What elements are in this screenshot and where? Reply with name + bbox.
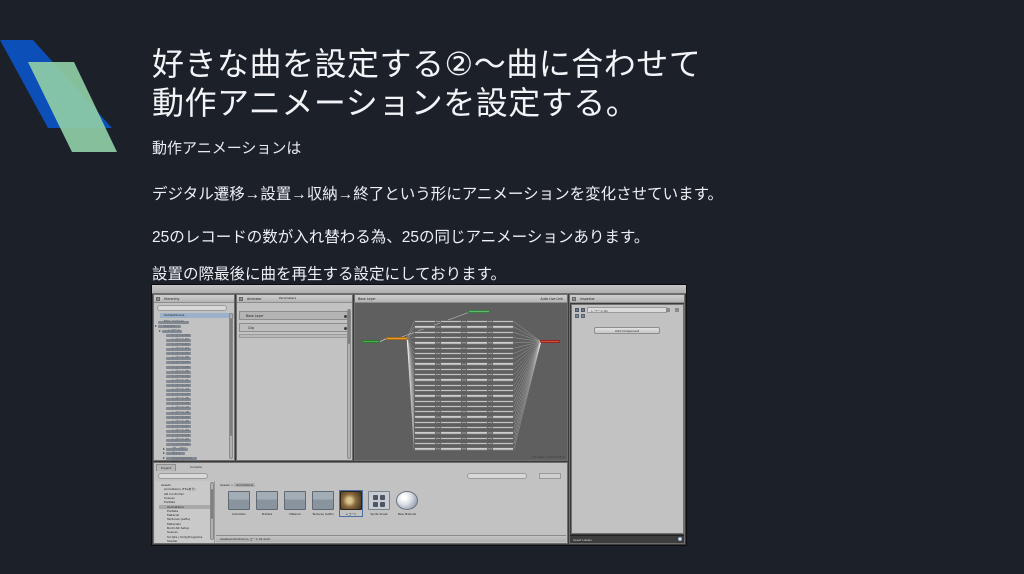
asset-item[interactable]: Textures (Lefts): [312, 491, 334, 516]
hierarchy-expand-arrow[interactable]: [163, 452, 165, 454]
animator-graph-footer: 25 states / 24 transitions: [533, 456, 565, 459]
animator-layers-panel: Animator Parameters Base Layer Clip: [236, 294, 353, 461]
animator-state-node[interactable]: [414, 336, 436, 339]
grid-cell: [380, 502, 385, 507]
animator-state-node[interactable]: [440, 442, 462, 445]
animator-state-node[interactable]: [440, 320, 462, 323]
grid-cell: [380, 495, 385, 500]
animator-state-node[interactable]: [492, 368, 514, 371]
animator-state-node[interactable]: [466, 336, 488, 339]
animator-state-node[interactable]: [466, 378, 488, 381]
project-view-toggle-icon[interactable]: [539, 473, 561, 479]
grid-cell: [373, 495, 378, 500]
animator-state-node[interactable]: [466, 447, 488, 450]
animator-state-node[interactable]: [492, 415, 514, 418]
project-search-input[interactable]: [158, 473, 208, 479]
animator-state-node[interactable]: [466, 341, 488, 344]
animator-state-node[interactable]: [414, 426, 436, 429]
animator-state-node[interactable]: [466, 368, 488, 371]
animator-state-node[interactable]: [414, 368, 436, 371]
animator-state-node[interactable]: [440, 394, 462, 397]
animator-state-node[interactable]: [440, 325, 462, 328]
animator-state-node[interactable]: [492, 357, 514, 360]
project-filter-input[interactable]: [467, 473, 527, 479]
hierarchy-search-input[interactable]: [157, 305, 227, 311]
animator-state-node[interactable]: [466, 325, 488, 328]
breadcrumb-animations[interactable]: Animations: [234, 483, 255, 487]
animator-state-node[interactable]: [440, 357, 462, 360]
animator-state-node[interactable]: [466, 400, 488, 403]
inspector-body: レコード-01 Add Component: [571, 304, 684, 534]
animator-state-node[interactable]: [466, 384, 488, 387]
animator-state-node[interactable]: [466, 347, 488, 350]
animator-layer-row-clip[interactable]: Clip: [239, 323, 351, 332]
animator-layer-clip-label: Clip: [248, 326, 254, 330]
animator-layer-controls[interactable]: Auto Live Link: [541, 295, 563, 303]
asset-item[interactable]: Material: [284, 491, 306, 516]
asset-label: レコード: [340, 512, 362, 516]
parameters-tab[interactable]: Parameters: [275, 295, 300, 302]
animator-state-node[interactable]: [466, 415, 488, 418]
animator-state-node[interactable]: [440, 426, 462, 429]
inspector-icon: [572, 297, 576, 301]
project-status-bar: Assets/Animations/レコード-01.anim: [216, 535, 566, 542]
asset-item[interactable]: New Material: [396, 491, 418, 516]
animator-state-node[interactable]: [414, 384, 436, 387]
animator-state-node[interactable]: [466, 362, 488, 365]
animator-state-node[interactable]: [440, 400, 462, 403]
animator-state-node[interactable]: [414, 431, 436, 434]
asset-label: Material: [284, 512, 306, 516]
hierarchy-scene-root[interactable]: SampleScene: [160, 313, 234, 318]
subtitle-text: 動作アニメーションは: [152, 138, 301, 160]
project-breadcrumb[interactable]: Assets > Animations: [220, 483, 255, 487]
body-line-3: 設置の際最後に曲を再生する設定にしております。: [152, 264, 506, 286]
hierarchy-panel: Hierarchy SampleScene Main CameraCanvasレ…: [153, 294, 235, 461]
animator-default-state-node[interactable]: [468, 310, 490, 313]
object-static-toggle[interactable]: [575, 314, 579, 318]
object-name-field[interactable]: レコード-01: [587, 307, 667, 313]
asset-thumbnail: [340, 491, 362, 510]
project-tree-scrollbar[interactable]: [210, 482, 214, 540]
asset-item[interactable]: Animation: [228, 491, 250, 516]
animator-exit-node[interactable]: [540, 340, 560, 343]
hierarchy-tab[interactable]: Hierarchy: [154, 295, 234, 303]
animator-state-node[interactable]: [414, 378, 436, 381]
animator-state-node[interactable]: [414, 421, 436, 424]
animator-state-node[interactable]: [492, 320, 514, 323]
animator-state-node[interactable]: [440, 421, 462, 424]
tab-console[interactable]: Console: [186, 464, 206, 471]
animator-state-node[interactable]: [492, 352, 514, 355]
hierarchy-expand-arrow[interactable]: [155, 325, 157, 327]
add-component-button[interactable]: Add Component: [594, 327, 660, 334]
animator-state-node[interactable]: [492, 373, 514, 376]
animator-state-node[interactable]: [414, 389, 436, 392]
asset-item[interactable]: レコード: [340, 491, 362, 516]
animator-state-node[interactable]: [466, 405, 488, 408]
animator-state-node[interactable]: [440, 405, 462, 408]
animator-state-node[interactable]: [414, 325, 436, 328]
hierarchy-expand-arrow[interactable]: [159, 330, 161, 332]
animator-state-node[interactable]: [492, 447, 514, 450]
hierarchy-scrollbar[interactable]: [229, 313, 233, 459]
slide-root: 好きな曲を設定する②〜曲に合わせて 動作アニメーションを設定する。 動作アニメー…: [0, 0, 1024, 574]
hierarchy-icon: [156, 297, 160, 301]
animator-state-node[interactable]: [414, 442, 436, 445]
animator-icon: [239, 297, 243, 301]
hierarchy-expand-arrow[interactable]: [163, 457, 165, 459]
project-tree-item[interactable]: Shader: [159, 539, 211, 543]
animator-state-node[interactable]: [492, 426, 514, 429]
animator-state-node[interactable]: [492, 378, 514, 381]
animator-state-node[interactable]: [492, 384, 514, 387]
animator-state-node[interactable]: [466, 357, 488, 360]
body-line-2: 25のレコードの数が入れ替わる為、25の同じアニメーションあります。: [152, 227, 649, 249]
asset-thumbnail: [396, 491, 418, 510]
animator-state-node[interactable]: [440, 384, 462, 387]
asset-thumbnail: [228, 491, 250, 510]
animator-state-node[interactable]: [466, 426, 488, 429]
page-title: 好きな曲を設定する②〜曲に合わせて 動作アニメーションを設定する。: [152, 45, 701, 123]
asset-label: Textures (Lefts): [312, 512, 334, 516]
object-prefab-icon: [581, 308, 585, 312]
animator-state-node[interactable]: [440, 331, 462, 334]
animator-state-node[interactable]: [492, 405, 514, 408]
asset-thumbnail: [312, 491, 334, 510]
animator-state-node[interactable]: [414, 357, 436, 360]
animator-state-node[interactable]: [440, 368, 462, 371]
animator-state-node[interactable]: [440, 415, 462, 418]
animator-state-node[interactable]: [440, 336, 462, 339]
breadcrumb-assets[interactable]: Assets: [220, 483, 230, 487]
asset-label-badge[interactable]: [678, 537, 682, 541]
animator-state-node[interactable]: [492, 400, 514, 403]
inspector-menu-icon[interactable]: [675, 308, 679, 312]
animator-state-node[interactable]: [414, 405, 436, 408]
asset-thumbnail: [284, 491, 306, 510]
animator-state-node[interactable]: [466, 437, 488, 440]
project-tree[interactable]: AssetsAnimations (Fbxあり)AR ControllerSce…: [155, 481, 215, 543]
animator-state-node[interactable]: [466, 421, 488, 424]
animator-state-node[interactable]: [440, 362, 462, 365]
inspector-tab[interactable]: Inspector: [570, 295, 684, 303]
object-tag-icon: [581, 314, 585, 318]
animator-state-node[interactable]: [466, 320, 488, 323]
animator-state-node[interactable]: [492, 389, 514, 392]
animator-state-node[interactable]: [492, 431, 514, 434]
animator-state-node[interactable]: [414, 331, 436, 334]
logo-shapes: [0, 0, 160, 165]
asset-thumbnail: [256, 491, 278, 510]
inspector-lock-icon[interactable]: [666, 308, 670, 312]
animator-state-node[interactable]: [466, 373, 488, 376]
animator-state-node[interactable]: [414, 347, 436, 350]
animator-any-state-node[interactable]: [386, 337, 408, 340]
animator-state-node[interactable]: [414, 362, 436, 365]
animator-state-node[interactable]: [466, 442, 488, 445]
animator-state-graph[interactable]: [356, 304, 566, 460]
animator-state-node[interactable]: [440, 447, 462, 450]
animator-state-node[interactable]: [440, 341, 462, 344]
animator-state-node[interactable]: [440, 431, 462, 434]
project-panel: Project Console AssetsAnimations (Fbxあり)…: [153, 462, 568, 544]
animator-state-node[interactable]: [492, 331, 514, 334]
animator-state-node[interactable]: [414, 437, 436, 440]
animator-entry-node[interactable]: [362, 340, 380, 343]
grid-cell: [373, 502, 378, 507]
animator-state-node[interactable]: [466, 410, 488, 413]
asset-label: Animation: [228, 512, 250, 516]
asset-label: Sprite Sheet: [368, 512, 390, 516]
animator-state-node[interactable]: [440, 373, 462, 376]
unity-main-toolbar[interactable]: [152, 285, 686, 294]
animator-state-node[interactable]: [492, 341, 514, 344]
animator-state-node[interactable]: [414, 415, 436, 418]
animator-state-node[interactable]: [440, 410, 462, 413]
animator-layer-row-base[interactable]: Base Layer: [239, 311, 351, 320]
animator-breadcrumb[interactable]: Base Layer: [358, 297, 376, 301]
animator-graph-panel: Base Layer Auto Live Link 25 states / 24…: [354, 294, 568, 461]
hierarchy-expand-arrow[interactable]: [163, 448, 165, 450]
animator-layer-divider: [239, 334, 351, 338]
project-content: Assets > Animations AnimationPrefabsMate…: [216, 481, 566, 542]
logo-mark: [0, 0, 160, 165]
asset-item[interactable]: Sprite Sheet: [368, 491, 390, 516]
animator-state-node[interactable]: [414, 447, 436, 450]
body-line-1: デジタル遷移→設置→収納→終了という形にアニメーションを変化させています。: [152, 184, 723, 206]
animator-state-node[interactable]: [440, 389, 462, 392]
animator-layers-scrollbar[interactable]: [347, 309, 351, 459]
animator-layer-base-label: Base Layer: [246, 314, 264, 318]
inspector-panel: Inspector レコード-01 Add Component Asset La…: [569, 294, 685, 544]
animator-state-node[interactable]: [492, 336, 514, 339]
asset-labels-footer[interactable]: Asset Labels: [570, 535, 684, 543]
animator-state-node[interactable]: [414, 352, 436, 355]
asset-thumbnail: [368, 491, 390, 510]
tab-project[interactable]: Project: [156, 464, 176, 471]
animator-state-node[interactable]: [466, 394, 488, 397]
animator-state-node[interactable]: [440, 437, 462, 440]
animator-state-node[interactable]: [492, 347, 514, 350]
animator-state-node[interactable]: [492, 442, 514, 445]
animator-state-node[interactable]: [414, 341, 436, 344]
unity-editor-screenshot: Hierarchy SampleScene Main CameraCanvasレ…: [152, 285, 686, 545]
animator-state-node[interactable]: [492, 394, 514, 397]
animator-state-node[interactable]: [440, 352, 462, 355]
animator-state-node[interactable]: [414, 410, 436, 413]
asset-label: Prefabs: [256, 512, 278, 516]
animator-state-node[interactable]: [492, 410, 514, 413]
animator-state-node[interactable]: [492, 325, 514, 328]
animator-state-node[interactable]: [440, 347, 462, 350]
animator-state-node[interactable]: [414, 320, 436, 323]
animator-state-node[interactable]: [492, 421, 514, 424]
animator-state-node[interactable]: [466, 431, 488, 434]
animator-state-node[interactable]: [414, 394, 436, 397]
animator-state-node[interactable]: [466, 352, 488, 355]
animator-state-node[interactable]: [466, 389, 488, 392]
object-enabled-checkbox[interactable]: [575, 308, 579, 312]
animator-state-node[interactable]: [492, 437, 514, 440]
animator-state-node[interactable]: [466, 331, 488, 334]
animator-state-node[interactable]: [414, 400, 436, 403]
animator-graph-header: Base Layer Auto Live Link: [355, 295, 567, 303]
animator-state-node[interactable]: [414, 373, 436, 376]
animator-state-node[interactable]: [440, 378, 462, 381]
asset-item[interactable]: Prefabs: [256, 491, 278, 516]
animator-state-node[interactable]: [492, 362, 514, 365]
asset-label: New Material: [396, 512, 418, 516]
